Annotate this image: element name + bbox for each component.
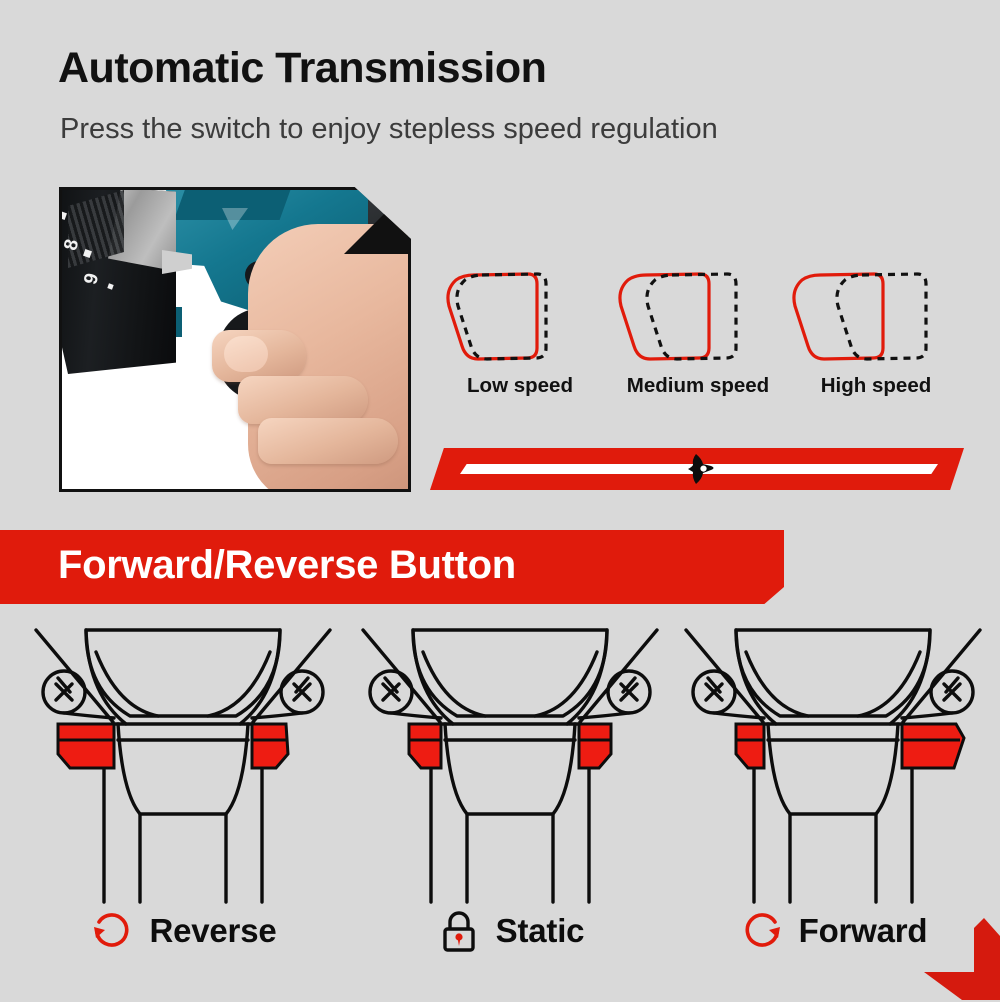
trigger-outline-icon [436,262,604,372]
trigger-outline-icon [614,262,782,372]
drill-top-view-diagram [18,612,348,912]
infographic-page: Automatic Transmission Press the switch … [0,0,1000,1000]
page-subtitle: Press the switch to enjoy stepless speed… [60,113,718,146]
trigger-diagram-high: High speed [792,262,960,412]
direction-label: Forward [799,912,928,950]
direction-button-left [58,724,288,768]
direction-diagram-reverse: Reverse [18,612,348,1002]
trigger-outline-icon [792,262,960,372]
drill-photo: 8 9 [59,187,411,492]
trigger-label: Low speed [436,374,604,398]
speed-slider[interactable] [430,448,964,490]
trigger-label: High speed [792,374,960,398]
trigger-diagram-low: Low speed [436,262,604,412]
finger-middle [238,376,368,424]
trigger-diagram-medium: Medium speed [614,262,782,412]
trigger-label: Medium speed [614,374,782,398]
finger-ring [258,418,398,464]
corner-arrow-icon [918,914,1000,1000]
collar-number-9: 9 [80,271,104,287]
rotate-clockwise-icon [739,908,785,954]
section-banner: Forward/Reverse Button [0,530,784,604]
photo-canvas: 8 9 [62,190,408,489]
lock-icon [436,908,482,954]
drill-clutch-collar: 8 9 [59,187,176,374]
fingernail [224,336,268,372]
collar-marker-dot [59,211,67,220]
direction-footer-reverse: Reverse [18,908,348,954]
rotate-counterclockwise-icon [89,908,135,954]
direction-diagram-group: Reverse [0,612,1000,1002]
direction-diagram-static: Static [345,612,675,1002]
direction-label: Static [496,912,585,950]
section-banner-title: Forward/Reverse Button [58,543,516,588]
direction-footer-static: Static [345,908,675,954]
collar-marker-dot [107,283,113,289]
slider-handle-marker[interactable] [684,452,718,486]
direction-button-center [409,724,611,768]
page-title: Automatic Transmission [58,44,546,93]
trigger-diagram-group: Low speed Medium speed High speed [436,262,960,412]
drill-top-view-diagram [668,612,998,912]
direction-label: Reverse [149,912,276,950]
drill-top-view-diagram [345,612,675,912]
